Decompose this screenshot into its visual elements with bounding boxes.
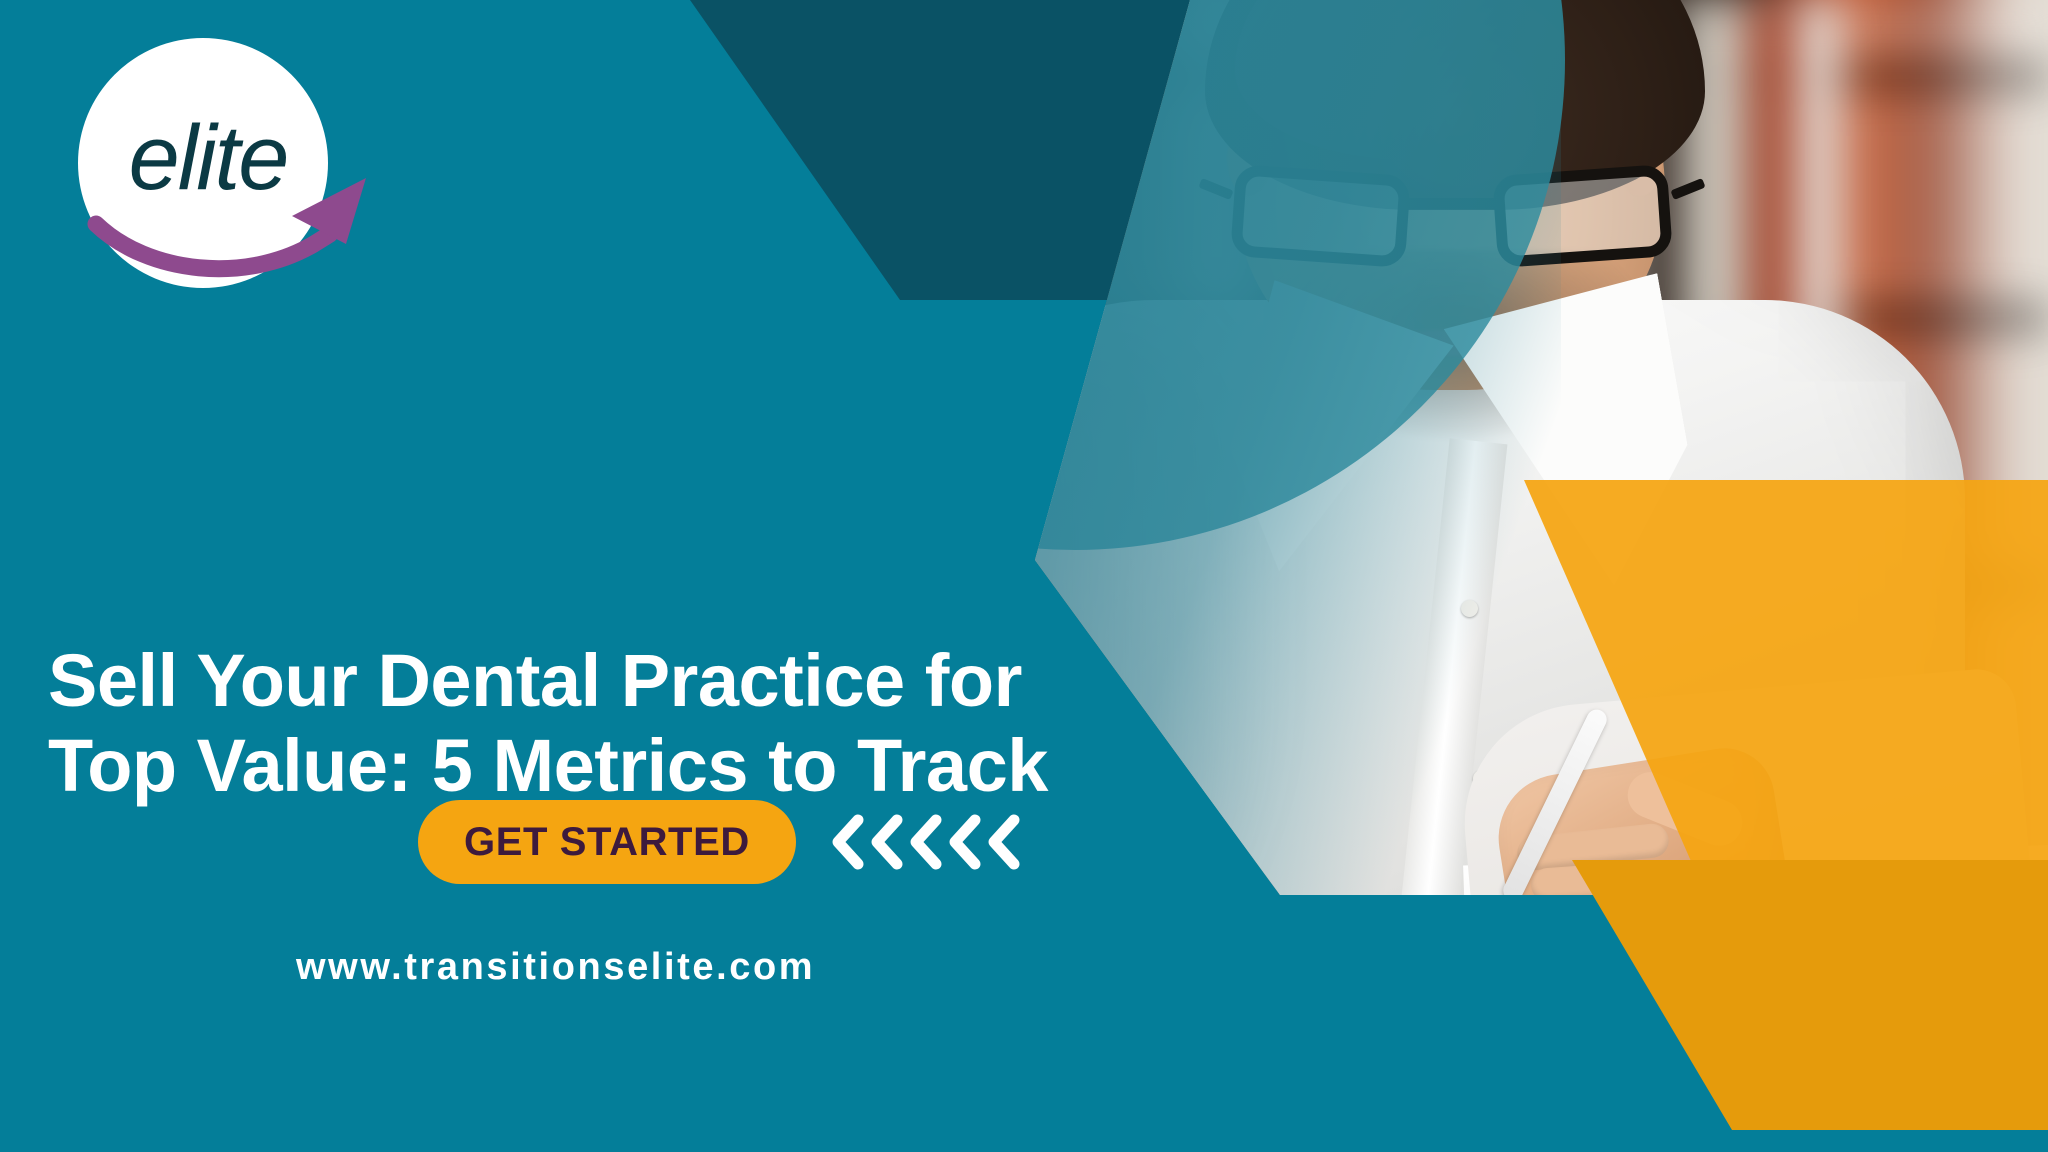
brand-logo[interactable]: elite <box>78 38 388 288</box>
get-started-button[interactable]: GET STARTED <box>418 800 796 884</box>
chevron-left-icon <box>986 814 1020 870</box>
headline-line-2: Top Value: 5 Metrics to Track <box>48 723 1228 809</box>
cta-row: GET STARTED <box>418 800 1020 884</box>
chevron-left-icon <box>830 814 864 870</box>
website-url[interactable]: www.transitionselite.com <box>296 946 815 989</box>
page-title: Sell Your Dental Practice for Top Value:… <box>48 638 1228 810</box>
chevron-left-icon <box>908 814 942 870</box>
orange-parallelogram-lower <box>1572 860 2048 1130</box>
chevron-left-icon <box>869 814 903 870</box>
headline-line-1: Sell Your Dental Practice for <box>48 639 1022 722</box>
purple-swoosh-arrow-icon <box>78 38 388 288</box>
chevron-left-icon <box>947 814 981 870</box>
banner-canvas: elite Sell Your Dental Practice for Top … <box>0 0 2048 1152</box>
chevron-group <box>830 814 1020 870</box>
glasses-temple-right <box>1670 178 1705 200</box>
